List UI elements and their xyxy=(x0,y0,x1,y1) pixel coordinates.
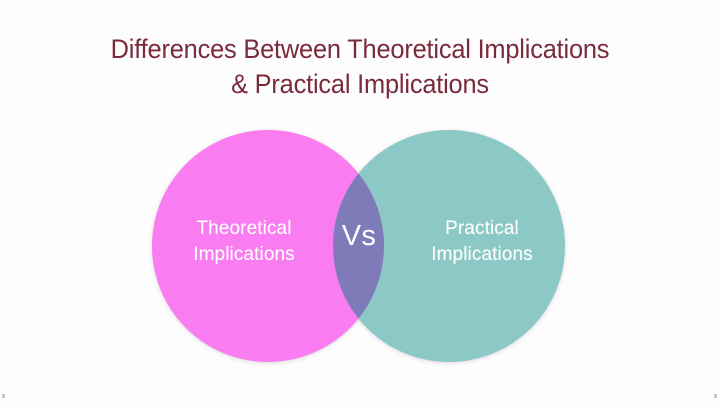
venn-label-practical: Practical Implications xyxy=(398,216,566,268)
corner-speckle-right xyxy=(714,394,717,398)
venn-label-practical-line2: Implications xyxy=(398,242,566,268)
venn-diagram-svg xyxy=(0,0,720,404)
venn-intersection-label: Vs xyxy=(322,222,396,251)
venn-label-theoretical: Theoretical Implications xyxy=(168,216,320,268)
venn-label-theoretical-line2: Implications xyxy=(168,242,320,268)
slide-canvas: Differences Between Theoretical Implicat… xyxy=(0,0,720,404)
venn-label-practical-line1: Practical xyxy=(398,216,566,242)
corner-speckle-left xyxy=(2,394,5,398)
venn-label-theoretical-line1: Theoretical xyxy=(168,216,320,242)
venn-diagram: Theoretical Implications Practical Impli… xyxy=(0,0,720,404)
